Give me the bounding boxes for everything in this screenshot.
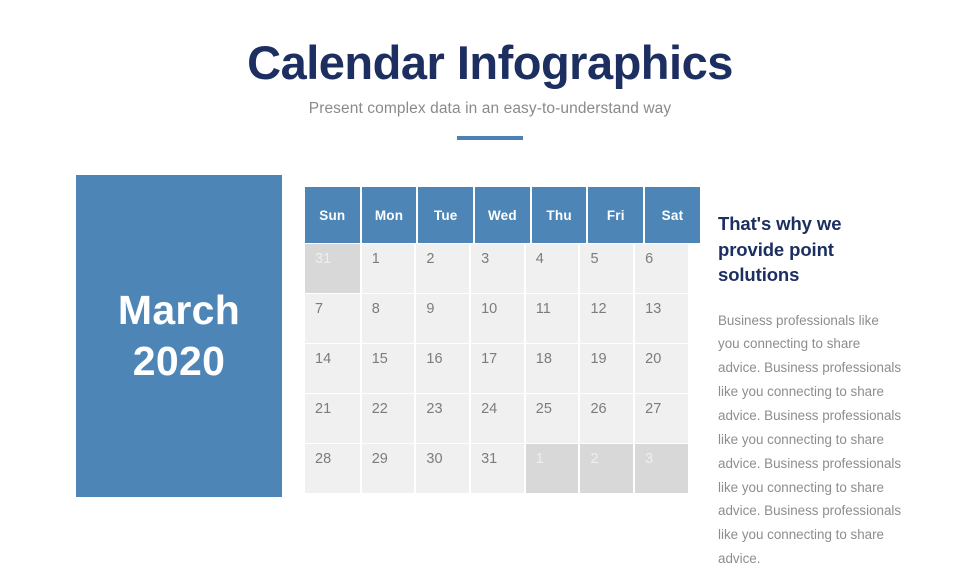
calendar-week-row: 78910111213	[305, 294, 688, 343]
day-number: 3	[481, 252, 524, 267]
day-number: 10	[481, 302, 524, 317]
calendar-day-cell[interactable]: 3	[469, 244, 524, 293]
day-number: 20	[645, 352, 688, 367]
calendar-day-cell[interactable]: 10	[469, 294, 524, 343]
day-number: 27	[645, 402, 688, 417]
day-number: 29	[372, 452, 415, 467]
weekday-header-label: Fri	[607, 208, 625, 223]
day-number: 17	[481, 352, 524, 367]
side-body-text: Business professionals like you connecti…	[718, 288, 904, 571]
calendar-day-cell[interactable]: 7	[305, 294, 360, 343]
calendar-week-row: 14151617181920	[305, 344, 688, 393]
weekday-header-label: Sun	[319, 208, 345, 223]
weekday-header-tue: Tue	[416, 187, 473, 243]
calendar-day-cell[interactable]: 4	[524, 244, 579, 293]
weekday-header-label: Wed	[488, 208, 517, 223]
day-number: 25	[536, 402, 579, 417]
day-number: 23	[426, 402, 469, 417]
side-heading: That's why we provide point solutions	[718, 211, 904, 288]
day-number: 30	[426, 452, 469, 467]
day-number: 1	[372, 252, 415, 267]
weekday-header-thu: Thu	[530, 187, 587, 243]
weekday-header-sat: Sat	[643, 187, 700, 243]
slide-header: Calendar Infographics Present complex da…	[0, 0, 980, 140]
weekday-header-label: Tue	[434, 208, 458, 223]
calendar-header-row: SunMonTueWedThuFriSat	[305, 187, 688, 243]
day-number: 22	[372, 402, 415, 417]
calendar-day-cell-adjacent-month[interactable]: 3	[633, 444, 688, 493]
calendar-grid: SunMonTueWedThuFriSat 311234567891011121…	[305, 187, 688, 493]
calendar-day-cell[interactable]: 24	[469, 394, 524, 443]
calendar-week-row: 31123456	[305, 244, 688, 293]
calendar-day-cell-adjacent-month[interactable]: 1	[524, 444, 579, 493]
day-number: 26	[590, 402, 633, 417]
day-number: 9	[426, 302, 469, 317]
calendar-day-cell[interactable]: 29	[360, 444, 415, 493]
calendar-day-cell[interactable]: 20	[633, 344, 688, 393]
side-text-block: That's why we provide point solutions Bu…	[718, 211, 904, 571]
calendar-day-cell[interactable]: 28	[305, 444, 360, 493]
calendar-day-cell[interactable]: 14	[305, 344, 360, 393]
day-number: 31	[315, 252, 360, 267]
calendar-day-cell[interactable]: 15	[360, 344, 415, 393]
calendar-day-cell[interactable]: 26	[578, 394, 633, 443]
day-number: 3	[645, 452, 688, 467]
calendar-day-cell[interactable]: 21	[305, 394, 360, 443]
weekday-header-label: Sat	[662, 208, 684, 223]
calendar-week-row: 28293031123	[305, 444, 688, 493]
month-name: March	[118, 285, 240, 336]
day-number: 16	[426, 352, 469, 367]
weekday-header-sun: Sun	[305, 187, 360, 243]
accent-divider	[457, 136, 523, 140]
day-number: 21	[315, 402, 360, 417]
calendar-day-cell[interactable]: 11	[524, 294, 579, 343]
month-year: 2020	[133, 336, 225, 387]
day-number: 5	[590, 252, 633, 267]
day-number: 2	[590, 452, 633, 467]
calendar-day-cell-adjacent-month[interactable]: 2	[578, 444, 633, 493]
day-number: 28	[315, 452, 360, 467]
weekday-header-label: Thu	[546, 208, 571, 223]
calendar-day-cell[interactable]: 5	[578, 244, 633, 293]
day-number: 13	[645, 302, 688, 317]
day-number: 24	[481, 402, 524, 417]
calendar-day-cell[interactable]: 19	[578, 344, 633, 393]
month-panel: March 2020	[76, 175, 282, 497]
calendar-day-cell[interactable]: 8	[360, 294, 415, 343]
day-number: 11	[536, 302, 579, 317]
calendar-week-row: 21222324252627	[305, 394, 688, 443]
calendar-day-cell[interactable]: 12	[578, 294, 633, 343]
weekday-header-label: Mon	[375, 208, 403, 223]
day-number: 15	[372, 352, 415, 367]
page-subtitle: Present complex data in an easy-to-under…	[0, 87, 980, 118]
calendar-day-cell[interactable]: 17	[469, 344, 524, 393]
day-number: 4	[536, 252, 579, 267]
day-number: 6	[645, 252, 688, 267]
day-number: 7	[315, 302, 360, 317]
calendar-day-cell[interactable]: 18	[524, 344, 579, 393]
day-number: 31	[481, 452, 524, 467]
calendar-day-cell[interactable]: 13	[633, 294, 688, 343]
calendar-day-cell[interactable]: 23	[414, 394, 469, 443]
day-number: 19	[590, 352, 633, 367]
weekday-header-fri: Fri	[586, 187, 643, 243]
calendar-day-cell[interactable]: 1	[360, 244, 415, 293]
day-number: 8	[372, 302, 415, 317]
day-number: 14	[315, 352, 360, 367]
calendar-day-cell[interactable]: 6	[633, 244, 688, 293]
calendar-day-cell[interactable]: 16	[414, 344, 469, 393]
day-number: 18	[536, 352, 579, 367]
page-title: Calendar Infographics	[0, 0, 980, 87]
day-number: 1	[536, 452, 579, 467]
weekday-header-mon: Mon	[360, 187, 417, 243]
weekday-header-wed: Wed	[473, 187, 530, 243]
calendar-day-cell[interactable]: 27	[633, 394, 688, 443]
day-number: 2	[426, 252, 469, 267]
calendar-day-cell[interactable]: 22	[360, 394, 415, 443]
calendar-day-cell[interactable]: 9	[414, 294, 469, 343]
calendar-day-cell[interactable]: 30	[414, 444, 469, 493]
calendar-day-cell[interactable]: 25	[524, 394, 579, 443]
calendar-day-cell-adjacent-month[interactable]: 31	[305, 244, 360, 293]
day-number: 12	[590, 302, 633, 317]
calendar-day-cell[interactable]: 31	[469, 444, 524, 493]
calendar-day-cell[interactable]: 2	[414, 244, 469, 293]
